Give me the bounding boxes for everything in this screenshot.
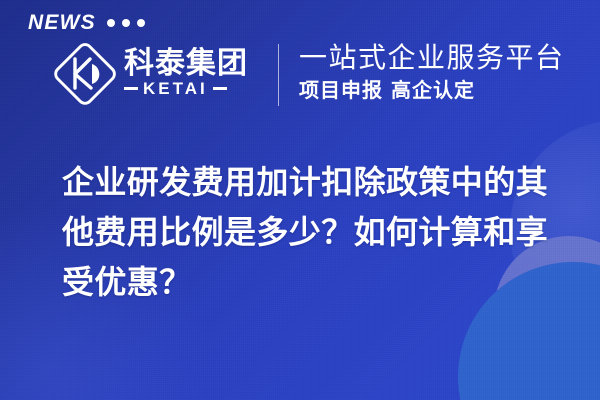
news-dot-icon <box>122 19 130 27</box>
news-banner: NEWS 科泰集团 KETAI <box>0 0 600 400</box>
header-divider <box>278 44 279 106</box>
news-eyebrow: NEWS <box>28 12 145 33</box>
page-title: 企业研发费用加计扣除政策中的其 他费用比例是多少？如何计算和享 受优惠？ <box>62 157 552 307</box>
news-dot-icon <box>107 19 115 27</box>
headline-line-1: 企业研发费用加计扣除政策中的其 <box>62 157 552 207</box>
brand-name-en-row: KETAI <box>124 80 248 97</box>
brand-rule-right-icon <box>213 87 227 90</box>
slogan-primary: 一站式企业服务平台 <box>299 42 565 73</box>
brand-name-en: KETAI <box>143 80 208 97</box>
brand-rule-left-icon <box>124 87 138 90</box>
headline-line-2: 他费用比例是多少？如何计算和享 <box>62 207 552 257</box>
brand-logo-lockup: 科泰集团 KETAI <box>52 40 248 106</box>
ketai-diamond-monogram-icon <box>52 40 118 106</box>
brand-wordmark: 科泰集团 KETAI <box>124 49 248 98</box>
news-dot-icon <box>137 19 145 27</box>
slogan-secondary: 项目申报 高企认定 <box>299 79 565 102</box>
headline-line-3: 受优惠？ <box>62 257 552 307</box>
news-label: NEWS <box>28 12 96 33</box>
slogan-block: 一站式企业服务平台 项目申报 高企认定 <box>299 42 565 102</box>
brand-name-cn: 科泰集团 <box>124 49 248 80</box>
news-dots-icon <box>107 19 145 27</box>
